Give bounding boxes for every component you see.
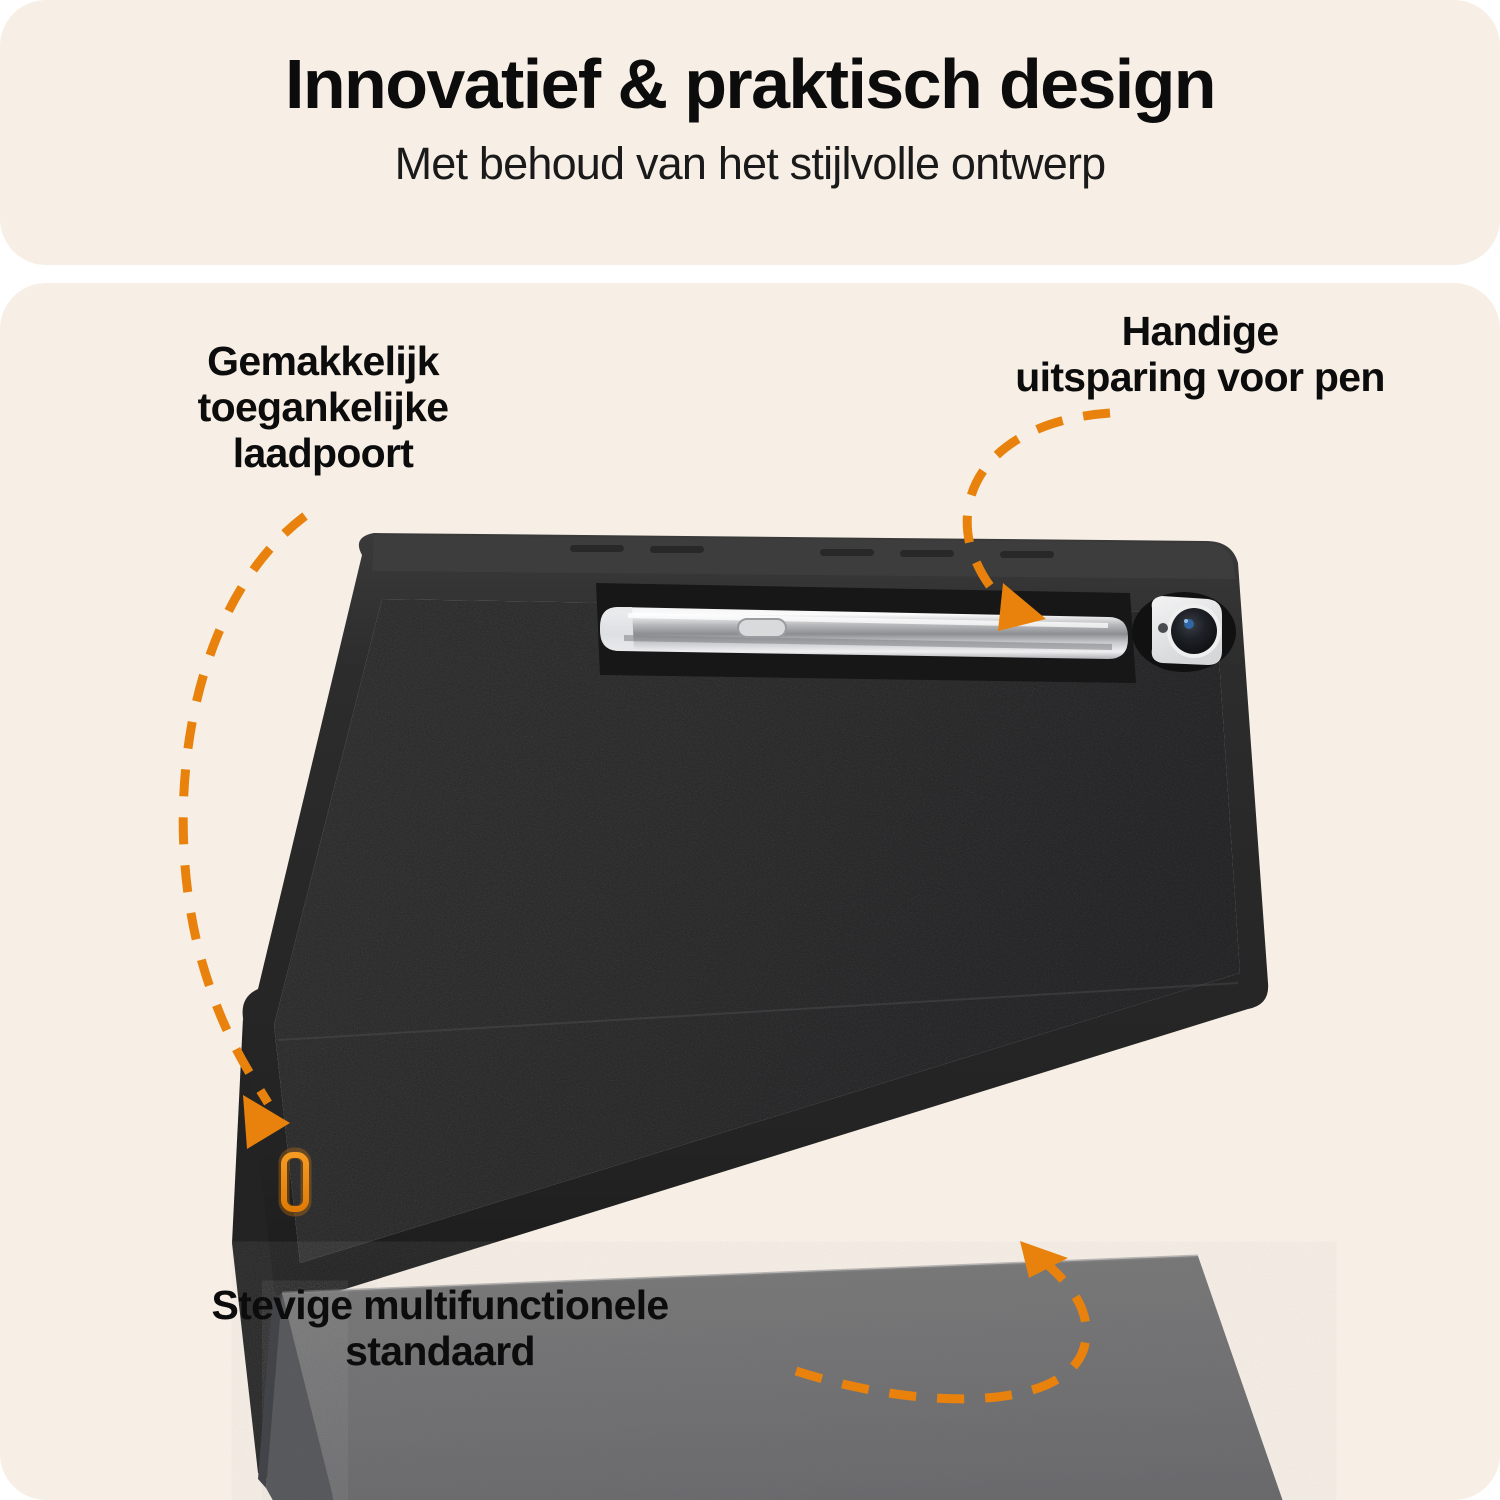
arrow-stand — [796, 1241, 1086, 1399]
annotation-stand: Stevige multifunctionele standaard — [110, 1283, 770, 1375]
page-title: Innovatief & praktisch design — [285, 48, 1215, 121]
product-showcase-panel: Gemakkelijk toegankelijke laadpoort Hand… — [0, 283, 1500, 1500]
infographic-page: Innovatief & praktisch design Met behoud… — [0, 0, 1500, 1500]
case-frame — [243, 533, 1269, 1304]
leather-back-panel — [274, 599, 1240, 1263]
annotation-charging-port: Gemakkelijk toegankelijke laadpoort — [103, 339, 543, 477]
arrow-pen-slot — [967, 413, 1110, 631]
pen-cutout — [596, 583, 1136, 683]
page-subtitle: Met behoud van het stijlvolle ontwerp — [395, 139, 1106, 189]
header-card: Innovatief & praktisch design Met behoud… — [0, 0, 1500, 265]
stylus-pen — [600, 607, 1128, 659]
arrow-charging-port — [183, 516, 305, 1149]
stand-rear-fold — [232, 1018, 372, 1496]
annotation-pen-slot: Handige uitsparing voor pen — [930, 309, 1470, 401]
camera-module — [1132, 592, 1236, 672]
charging-port-highlight[interactable] — [284, 1153, 306, 1211]
